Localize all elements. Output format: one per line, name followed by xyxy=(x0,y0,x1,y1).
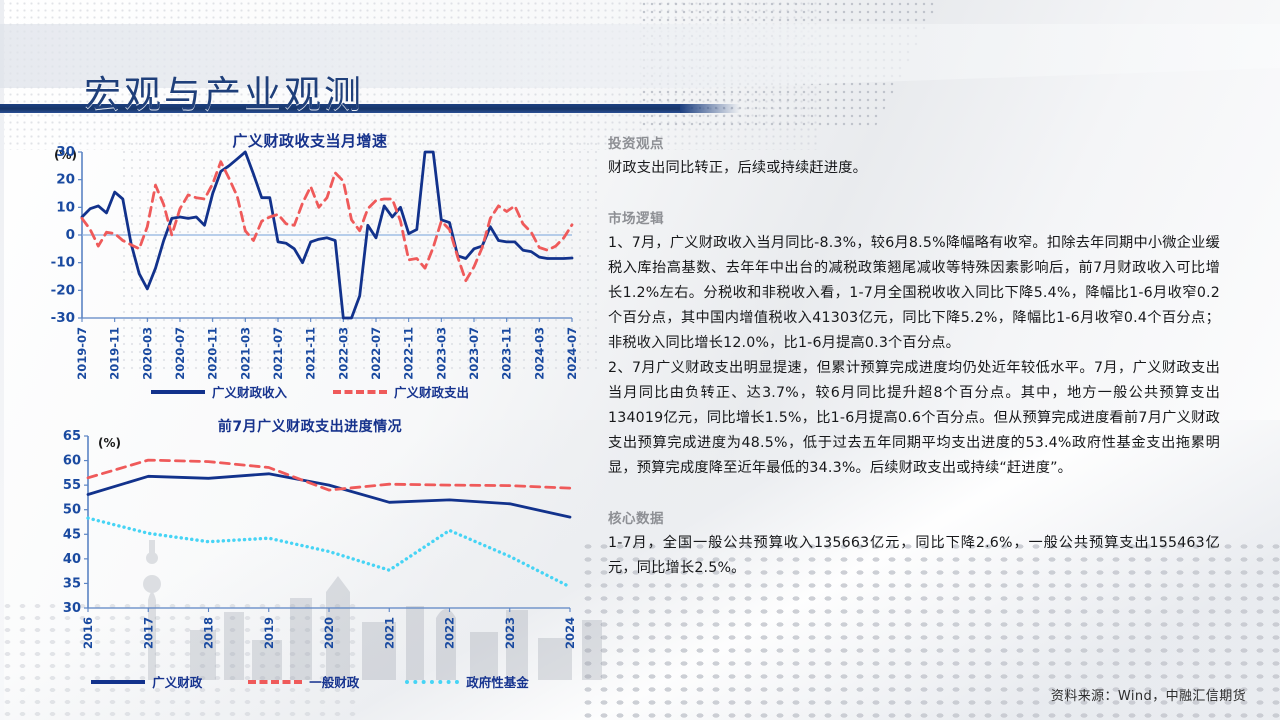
svg-text:2022-07: 2022-07 xyxy=(369,327,383,380)
slide-header: 宏观与产业观测 xyxy=(0,24,1280,104)
section-heading: 核心数据 xyxy=(608,507,1220,527)
svg-text:20: 20 xyxy=(56,172,75,188)
slide-root: 宏观与产业观测 广义财政收支当月增速 (%) 3020100-10-20-302… xyxy=(0,0,1280,720)
svg-text:60: 60 xyxy=(63,454,81,469)
section-body: 1、7月，广义财政收入当月同比-8.3%，较6月8.5%降幅略有收窄。扣除去年同… xyxy=(608,231,1220,356)
chart2-plot: 6560555045403530201620172018201920202021… xyxy=(40,410,580,700)
chart2-legend-item-1: 一般财政 xyxy=(248,672,359,691)
chart2-legend-item-2: 政府性基金 xyxy=(405,672,529,691)
svg-text:2021: 2021 xyxy=(382,617,396,649)
chart2-legend-label-0: 广义财政 xyxy=(152,672,202,691)
svg-text:2022-03: 2022-03 xyxy=(336,327,350,380)
svg-text:2019-07: 2019-07 xyxy=(75,327,89,380)
section-core-data: 核心数据 1-7月，全国一般公共预算收入135663亿元，同比下降2.6%，一般… xyxy=(608,507,1220,581)
spacer xyxy=(608,181,1220,207)
svg-text:2017: 2017 xyxy=(141,617,155,649)
svg-text:2019: 2019 xyxy=(262,617,276,649)
line-solid-blue-icon xyxy=(151,390,205,394)
header-underline-tail xyxy=(680,104,740,113)
svg-text:2020-07: 2020-07 xyxy=(173,327,187,380)
svg-text:40: 40 xyxy=(63,552,81,567)
svg-text:45: 45 xyxy=(63,527,81,542)
svg-text:2020-03: 2020-03 xyxy=(140,327,154,380)
chart-pre-july-expenditure-progress: 前7月广义财政支出进度情况 (%) 6560555045403530201620… xyxy=(40,410,580,700)
svg-text:2023-07: 2023-07 xyxy=(467,327,481,380)
svg-text:2019-11: 2019-11 xyxy=(108,327,122,380)
chart1-plot: 3020100-10-20-302019-072019-112020-03202… xyxy=(40,124,580,414)
svg-text:2020: 2020 xyxy=(322,617,336,649)
svg-text:2021-11: 2021-11 xyxy=(304,327,318,380)
svg-text:2018: 2018 xyxy=(202,617,216,649)
chart2-legend-label-2: 政府性基金 xyxy=(466,672,529,691)
svg-text:2024-03: 2024-03 xyxy=(532,327,546,380)
svg-text:50: 50 xyxy=(63,503,81,518)
svg-text:0: 0 xyxy=(66,227,75,243)
chart2-legend-item-0: 广义财政 xyxy=(91,672,202,691)
svg-text:-30: -30 xyxy=(51,310,75,326)
section-market-logic-2: 2、7月广义财政支出明显提速，但累计预算完成进度均仍处近年较低水平。7月，广义财… xyxy=(608,356,1220,481)
chart1-legend: 广义财政收入 广义财政支出 xyxy=(40,382,580,401)
chart-broad-fiscal-monthly-growth: 广义财政收支当月增速 (%) 3020100-10-20-302019-0720… xyxy=(40,124,580,414)
svg-text:2020-11: 2020-11 xyxy=(206,327,220,380)
source-note: 资料来源：Wind，中融汇信期货 xyxy=(1051,685,1246,704)
svg-text:30: 30 xyxy=(63,601,81,616)
svg-text:2022: 2022 xyxy=(443,617,457,649)
line-dashed-red-icon xyxy=(248,680,302,684)
line-dashed-red-icon xyxy=(333,390,387,394)
chart2-legend: 广义财政 一般财政 政府性基金 xyxy=(40,672,580,691)
section-market-logic: 市场逻辑 1、7月，广义财政收入当月同比-8.3%，较6月8.5%降幅略有收窄。… xyxy=(608,207,1220,356)
section-body: 1-7月，全国一般公共预算收入135663亿元，同比下降2.6%，一般公共预算支… xyxy=(608,531,1220,581)
svg-text:-20: -20 xyxy=(51,282,75,298)
chart1-legend-label-1: 广义财政支出 xyxy=(394,382,469,401)
chart1-legend-label-0: 广义财政收入 xyxy=(212,382,287,401)
svg-text:2023-03: 2023-03 xyxy=(434,327,448,380)
svg-text:2022-11: 2022-11 xyxy=(402,327,416,380)
section-body: 2、7月广义财政支出明显提速，但累计预算完成进度均仍处近年较低水平。7月，广义财… xyxy=(608,356,1220,481)
section-investment-view: 投资观点 财政支出同比转正，后续或持续赶进度。 xyxy=(608,132,1220,181)
section-heading: 投资观点 xyxy=(608,132,1220,152)
svg-text:2016: 2016 xyxy=(81,617,95,649)
section-heading: 市场逻辑 xyxy=(608,207,1220,227)
chart1-legend-item-0: 广义财政收入 xyxy=(151,382,287,401)
svg-text:10: 10 xyxy=(56,199,75,215)
svg-text:65: 65 xyxy=(63,429,81,444)
line-solid-blue-icon xyxy=(91,680,145,684)
chart1-legend-item-1: 广义财政支出 xyxy=(333,382,469,401)
commentary-panel: 投资观点 财政支出同比转正，后续或持续赶进度。 市场逻辑 1、7月，广义财政收入… xyxy=(608,132,1220,581)
svg-text:2023-11: 2023-11 xyxy=(500,327,514,380)
section-body: 财政支出同比转正，后续或持续赶进度。 xyxy=(608,156,1220,181)
line-dotted-cyan-icon xyxy=(405,680,459,684)
svg-text:2024-07: 2024-07 xyxy=(565,327,579,380)
svg-text:35: 35 xyxy=(63,576,81,591)
svg-text:2023: 2023 xyxy=(503,617,517,649)
svg-text:2021-03: 2021-03 xyxy=(238,327,252,380)
svg-text:30: 30 xyxy=(56,144,75,160)
svg-text:-10: -10 xyxy=(51,255,75,271)
page-title: 宏观与产业观测 xyxy=(84,64,364,118)
svg-text:2024: 2024 xyxy=(563,617,577,649)
spacer xyxy=(608,481,1220,507)
svg-text:2021-07: 2021-07 xyxy=(271,327,285,380)
svg-text:55: 55 xyxy=(63,478,81,493)
chart2-legend-label-1: 一般财政 xyxy=(309,672,359,691)
